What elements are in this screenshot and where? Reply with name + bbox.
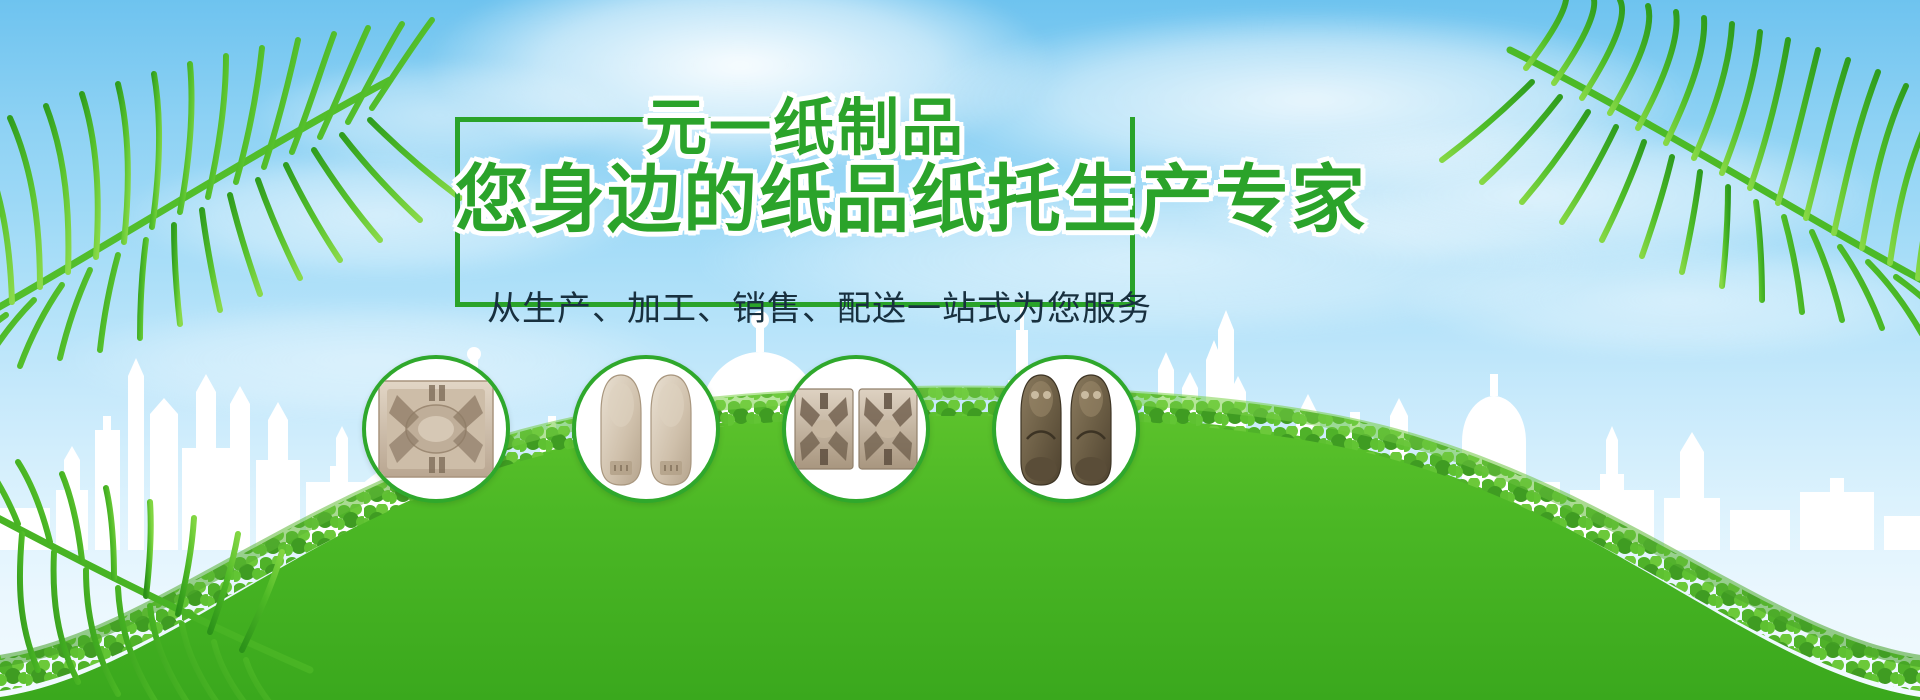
promo-banner: 元一纸制品 您身边的纸品纸托生产专家 从生产、加工、销售、配送一站式为您服务: [0, 0, 1920, 700]
paper-pulp-tray-icon: [377, 377, 495, 481]
paper-pulp-shoe-icon: [591, 369, 701, 489]
headline-line-1: 元一纸制品: [645, 93, 965, 165]
product-circle-2[interactable]: [572, 355, 720, 503]
headline-line-2: 您身边的纸品纸托生产专家: [455, 157, 1367, 243]
paper-pulp-corner-icon: [794, 387, 918, 471]
banner-subtitle: 从生产、加工、销售、配送一站式为您服务: [487, 288, 1107, 332]
product-circle-4[interactable]: [992, 355, 1140, 503]
green-hill: [0, 270, 1920, 700]
paper-pulp-shoe-dark-icon: [1011, 369, 1121, 489]
product-circle-1[interactable]: [362, 355, 510, 503]
product-circle-3[interactable]: [782, 355, 930, 503]
